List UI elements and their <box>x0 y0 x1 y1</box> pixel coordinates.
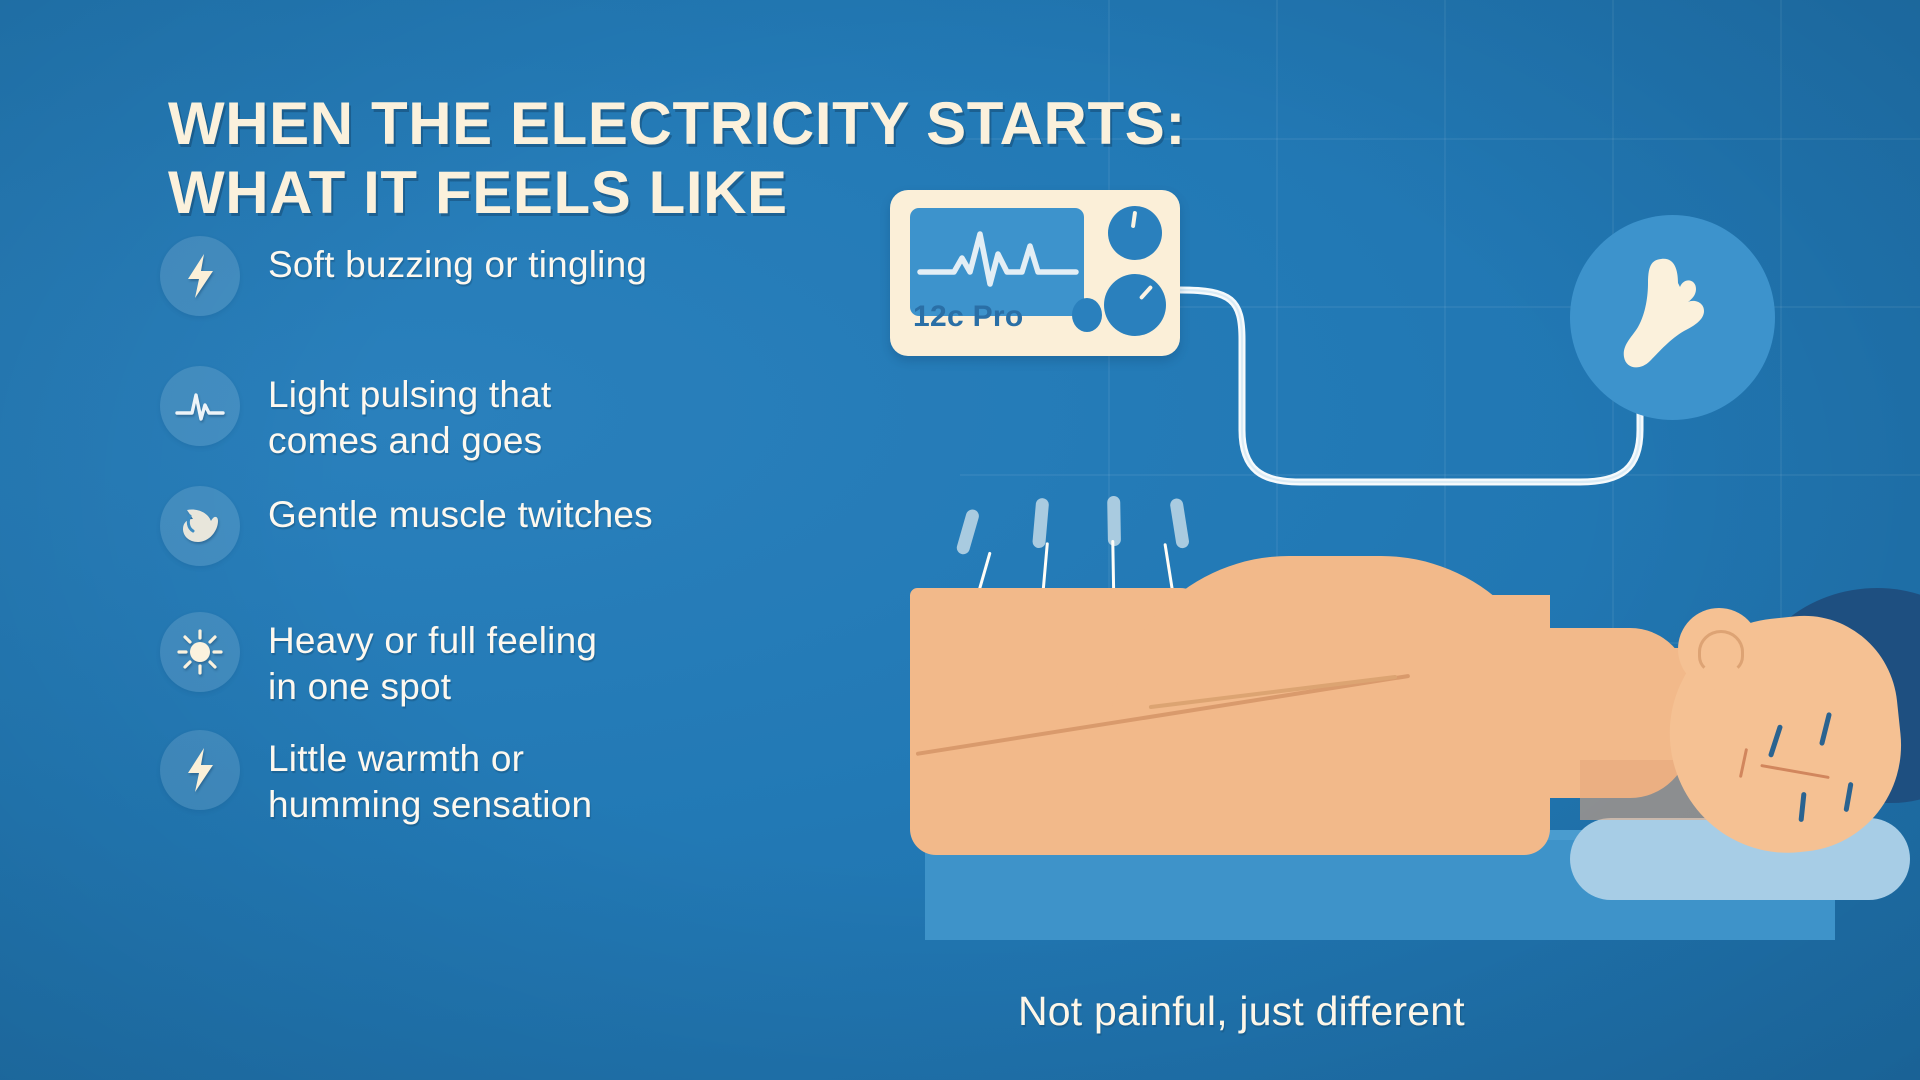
list-item: Soft buzzing or tingling <box>160 232 900 336</box>
icon-bubble <box>160 236 240 316</box>
needle-handle <box>1107 496 1121 546</box>
icon-bubble <box>160 366 240 446</box>
knob-lower[interactable] <box>1104 274 1166 336</box>
device-model-label: 12c Pro <box>913 300 1024 334</box>
muscle-flex-icon <box>178 504 222 548</box>
stimulation-device[interactable]: 12c Pro <box>890 190 1180 356</box>
pulse-wave-icon <box>175 386 225 426</box>
needle-handle <box>1032 498 1049 549</box>
needle-handle <box>1169 498 1190 549</box>
sensation-list: Soft buzzing or tingling Light pulsing t… <box>160 232 900 850</box>
knob-pointer <box>1139 285 1153 300</box>
list-item-label: Soft buzzing or tingling <box>268 232 647 288</box>
foot-badge <box>1570 215 1775 420</box>
list-item-label: Little warmth or humming sensation <box>268 726 592 828</box>
list-item: Light pulsing that comes and goes <box>160 362 900 466</box>
icon-bubble <box>160 486 240 566</box>
treatment-illustration: 12c Pro <box>880 0 1920 1080</box>
list-item: Heavy or full feeling in one spot <box>160 608 900 712</box>
lightning-bolt-icon <box>180 252 220 300</box>
knob-upper[interactable] <box>1108 206 1162 260</box>
lightning-bolt-icon <box>180 746 220 794</box>
icon-bubble <box>160 730 240 810</box>
list-item: Little warmth or humming sensation <box>160 726 900 830</box>
list-item-label: Gentle muscle twitches <box>268 482 653 538</box>
list-item-label: Heavy or full feeling in one spot <box>268 608 597 710</box>
knob-pointer <box>1131 211 1137 228</box>
ear-inner-line <box>1698 630 1744 674</box>
list-item-label: Light pulsing that comes and goes <box>268 362 551 464</box>
list-item: Gentle muscle twitches <box>160 482 900 586</box>
icon-bubble <box>160 612 240 692</box>
infographic-canvas: WHEN THE ELECTRICITY STARTS: WHAT IT FEE… <box>0 0 1920 1080</box>
sun-icon <box>176 628 224 676</box>
caption-text: Not painful, just different <box>1018 988 1465 1035</box>
indicator-button[interactable] <box>1072 298 1102 332</box>
needle-handle <box>955 508 980 556</box>
